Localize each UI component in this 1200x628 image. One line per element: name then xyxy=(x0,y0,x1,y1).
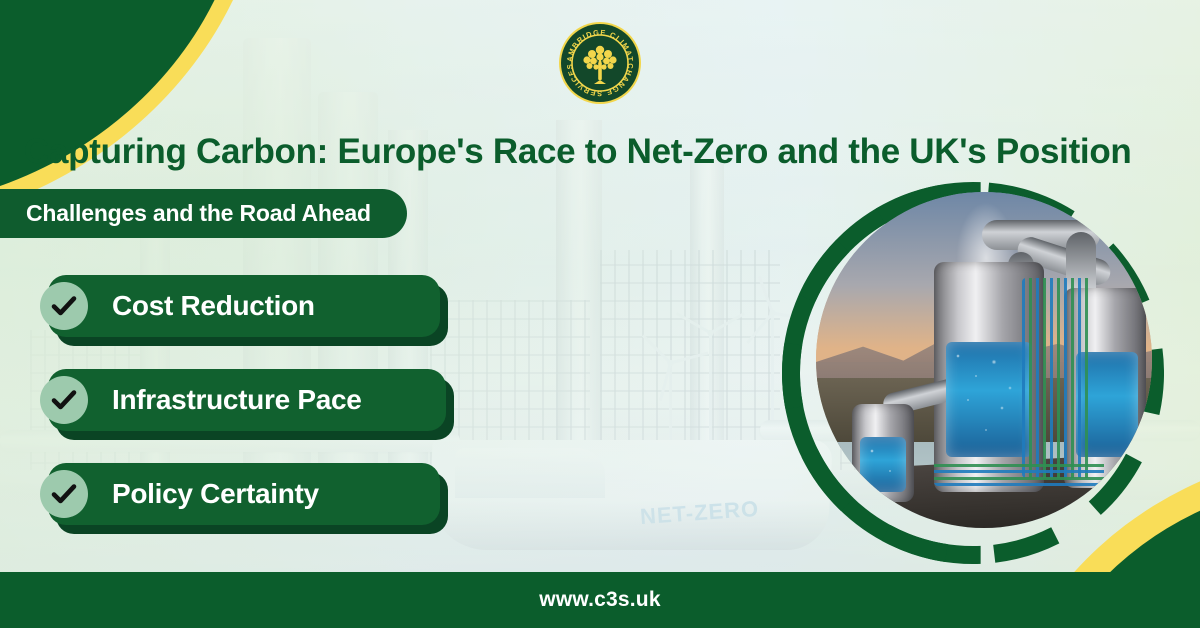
hero-bubbles xyxy=(946,342,1032,457)
logo[interactable]: CAMBRIDGE CLIMATE CHANGE SERVICES xyxy=(540,18,660,108)
feature-label: Infrastructure Pace xyxy=(112,384,362,416)
feature-pill[interactable]: Infrastructure Pace xyxy=(48,369,446,431)
hero-image xyxy=(816,192,1152,528)
subtitle-pill: Challenges and the Road Ahead xyxy=(0,189,407,238)
subtitle-text: Challenges and the Road Ahead xyxy=(26,200,371,227)
check-icon xyxy=(40,470,88,518)
feature-pill[interactable]: Policy Certainty xyxy=(48,463,440,525)
hero-cables xyxy=(934,460,1104,486)
banner-canvas: NET-ZERO xyxy=(0,0,1200,628)
page-title: Capturing Carbon: Europe's Race to Net-Z… xyxy=(24,130,1184,174)
feature-label: Cost Reduction xyxy=(112,290,315,322)
hero-bubbles xyxy=(860,437,906,492)
feature-label: Policy Certainty xyxy=(112,478,319,510)
check-icon xyxy=(40,376,88,424)
footer-bar: www.c3s.uk xyxy=(0,572,1200,628)
feature-pill[interactable]: Cost Reduction xyxy=(48,275,440,337)
check-icon xyxy=(40,282,88,330)
hero-cables xyxy=(1022,278,1092,478)
website-url[interactable]: www.c3s.uk xyxy=(539,588,660,612)
